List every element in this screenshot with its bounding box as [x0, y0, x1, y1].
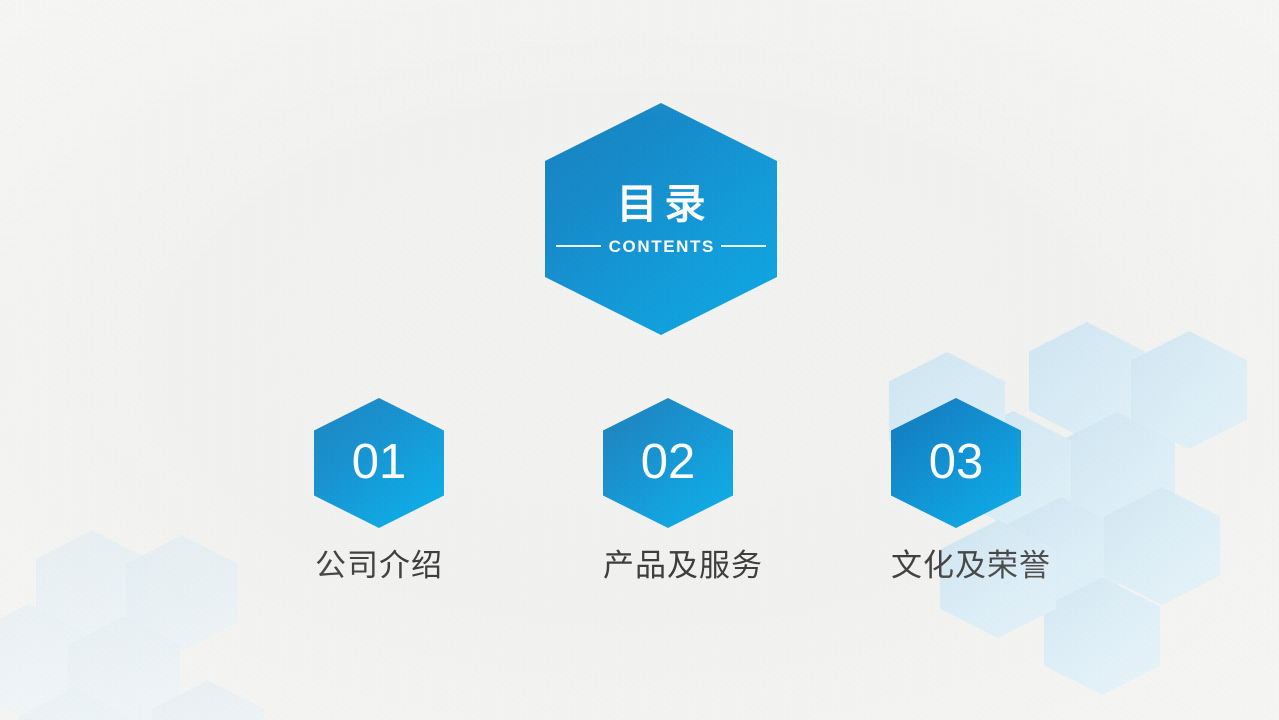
contents-item-03[interactable]: 03 文化及荣誉	[891, 398, 1021, 583]
contents-item-01[interactable]: 01 公司介绍	[314, 398, 444, 583]
item-label-01: 公司介绍	[314, 549, 444, 583]
item-number-03: 03	[929, 438, 984, 487]
decorative-honeycomb-left	[0, 0, 1279, 720]
contents-title-cn: 目录	[610, 184, 713, 225]
rule-right	[721, 245, 766, 247]
contents-title-en: CONTENTS	[601, 238, 721, 255]
item-hexagon-03[interactable]: 03	[891, 398, 1021, 528]
rule-left	[556, 245, 601, 247]
item-number-01: 01	[352, 438, 407, 487]
item-number-02: 02	[641, 438, 696, 487]
contents-item-02[interactable]: 02 产品及服务	[603, 398, 733, 583]
contents-slide: 目录 CONTENTS 01 公司介绍 02 产品及服务 03 文化及荣誉	[0, 0, 1279, 720]
item-label-02: 产品及服务	[603, 549, 733, 583]
contents-subtitle-row: CONTENTS	[556, 238, 766, 255]
item-hexagon-02[interactable]: 02	[603, 398, 733, 528]
item-label-03: 文化及荣誉	[891, 549, 1021, 583]
item-hexagon-01[interactable]: 01	[314, 398, 444, 528]
